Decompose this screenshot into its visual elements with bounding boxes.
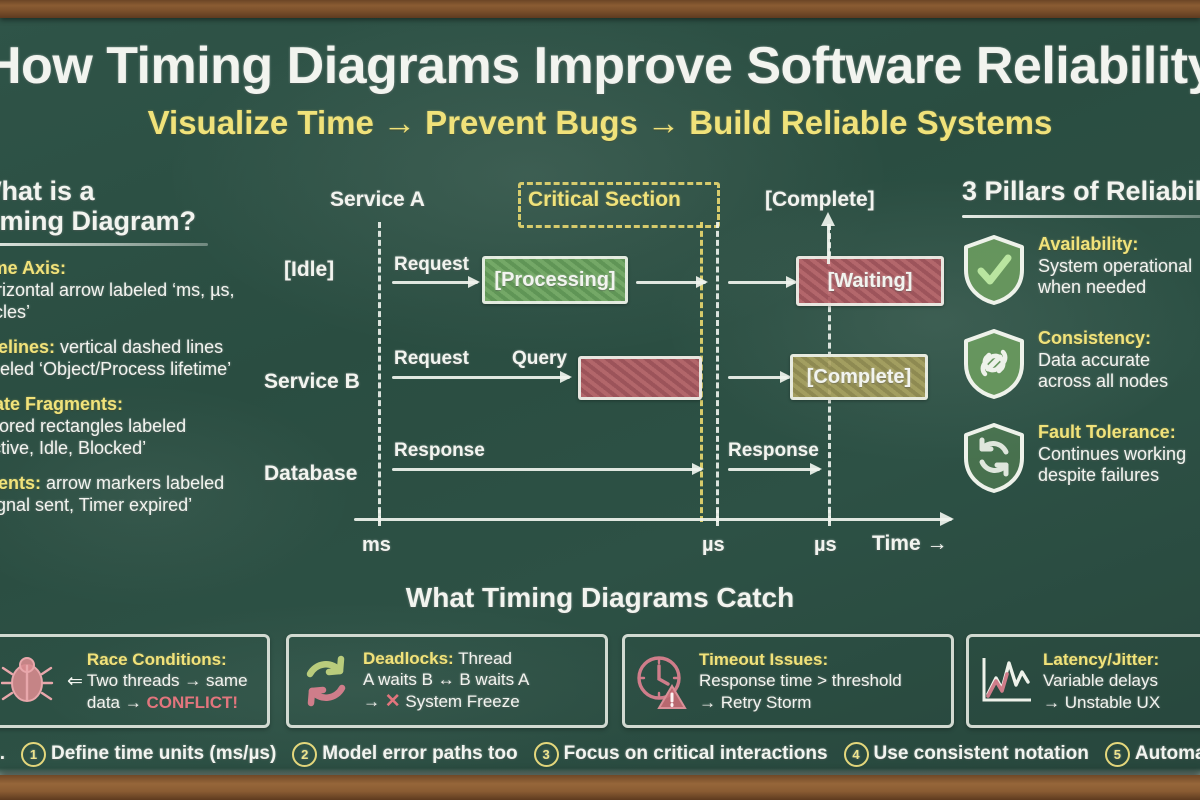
time-axis-label: Time →: [872, 532, 947, 556]
axis-tick: [716, 510, 719, 526]
message-label: Response: [394, 440, 485, 462]
left-item-term: State Fragments:: [0, 394, 123, 414]
card-term: Timeout Issues:: [699, 650, 828, 669]
footer-item: 1 Define time units (ms/µs): [21, 742, 276, 767]
axis-tick: [828, 510, 831, 526]
left-item-desc: colored rectangles labeled ‘Active, Idle…: [0, 416, 186, 458]
card-line2-post: System Freeze: [401, 692, 520, 711]
shield-recover-icon: [962, 422, 1026, 494]
complete-up-arrow: [827, 224, 830, 264]
critical-section-box: [518, 182, 720, 228]
state-label-idle: [Idle]: [284, 258, 334, 282]
cross-mark-icon: ✕: [385, 691, 401, 712]
message-arrow: [392, 376, 570, 379]
complete-marker-label: [Complete]: [765, 188, 875, 212]
list-item: Events: arrow markers labeled ‘Signal se…: [0, 473, 244, 517]
footer-item-text: Model error paths too: [322, 743, 517, 765]
pillar-term: Availability:: [1038, 234, 1138, 254]
state-box-blocked: [578, 356, 702, 400]
footer-item: 3 Focus on critical interactions: [534, 742, 828, 767]
left-item-desc: horizontal arrow labeled ‘ms, µs, cycles…: [0, 280, 234, 322]
left-item-term: Events:: [0, 473, 41, 493]
chalkboard-canvas: How Timing Diagrams Improve Software Rel…: [0, 0, 1200, 800]
catch-card-race-conditions: ⇐ Race Conditions: Two threads → same da…: [0, 634, 270, 728]
list-item: Fault Tolerance: Continues working despi…: [962, 422, 1200, 494]
pillar-line2: despite failures: [1038, 465, 1159, 485]
catch-card-timeout-issues: Timeout Issues: Response time > threshol…: [622, 634, 954, 728]
page-subtitle: Visualize Time → Prevent Bugs → Build Re…: [100, 104, 1100, 142]
right-panel-heading: 3 Pillars of Reliability: [962, 176, 1200, 207]
list-item: Availability: System operational when ne…: [962, 234, 1200, 306]
shield-link-icon: [962, 328, 1026, 400]
card-line1: Response time > threshold: [699, 671, 902, 690]
circular-arrows-icon: [297, 652, 355, 710]
wooden-frame-bottom: [0, 775, 1200, 800]
bug-icon: [1, 652, 59, 710]
page-title: How Timing Diagrams Improve Software Rel…: [0, 36, 1200, 96]
footer-item-text: Define time units (ms/µs): [51, 743, 276, 765]
axis-tick-label: µs: [702, 534, 725, 557]
number-badge: 2: [292, 742, 317, 767]
list-item: State Fragments: colored rectangles labe…: [0, 394, 244, 460]
number-badge: 4: [844, 742, 869, 767]
jitter-chart-icon: [977, 652, 1035, 710]
footer-item: 4 Use consistent notation: [844, 742, 1089, 767]
time-axis: [354, 518, 952, 521]
timing-diagram: Service A Critical Section [Complete] [I…: [250, 176, 970, 576]
card-term: Race Conditions:: [87, 650, 227, 669]
list-item: Consistency: Data accurate across all no…: [962, 328, 1200, 400]
card-line1: Variable delays: [1043, 671, 1158, 690]
axis-tick-label: µs: [814, 534, 837, 557]
message-label: Request: [394, 254, 469, 276]
left-panel-heading: What is a Timing Diagram?: [0, 176, 244, 236]
shield-check-icon: [962, 234, 1026, 306]
footer-lead: Practices.: [0, 743, 5, 765]
lifeline-label-database: Database: [264, 462, 357, 486]
card-line1: Two threads → same: [87, 671, 248, 690]
clock-alert-icon: [633, 652, 691, 710]
message-label: Response: [728, 440, 819, 462]
footer-item: 2 Model error paths too: [292, 742, 517, 767]
card-term: Latency/Jitter:: [1043, 650, 1159, 669]
lifeline-critical-end: [716, 222, 719, 522]
lifeline-service-a: [378, 222, 381, 522]
card-term: Deadlocks:: [363, 649, 454, 668]
state-box-waiting: [Waiting]: [796, 256, 944, 306]
left-panel: What is a Timing Diagram? Time Axis: hor…: [0, 176, 244, 530]
left-heading-line2: Timing Diagram?: [0, 206, 196, 236]
wooden-frame-top: [0, 0, 1200, 18]
message-arrow: [728, 281, 796, 284]
card-line2-pre: data →: [87, 693, 147, 712]
state-box-complete: [Complete]: [790, 354, 928, 400]
state-box-processing: [Processing]: [482, 256, 628, 304]
card-term-tail: Thread: [454, 649, 512, 668]
card-line1: A waits B ↔ B waits A: [363, 670, 529, 689]
message-arrow: [392, 468, 702, 471]
message-arrow: [636, 281, 706, 284]
card-line2-highlight: CONFLICT!: [146, 693, 238, 712]
pillar-line2: across all nodes: [1038, 371, 1168, 391]
footer-item-text: Focus on critical interactions: [564, 743, 828, 765]
axis-tick-label: ms: [362, 534, 391, 557]
list-item: Lifelines: vertical dashed lines labeled…: [0, 337, 244, 381]
number-badge: 1: [21, 742, 46, 767]
footer-item: 5 Automate timing: [1105, 742, 1200, 767]
left-arrow-glyph: ⇐: [67, 670, 83, 693]
lifeline-label-service-b: Service B: [264, 370, 360, 394]
number-badge: 3: [534, 742, 559, 767]
catch-card-latency-jitter: Latency/Jitter: Variable delays → Unstab…: [966, 634, 1200, 728]
left-panel-divider: [0, 243, 208, 246]
number-badge: 5: [1105, 742, 1130, 767]
pillar-line2: when needed: [1038, 277, 1146, 297]
message-label: Request: [394, 348, 469, 370]
pillar-term: Fault Tolerance:: [1038, 422, 1176, 442]
axis-tick: [378, 510, 381, 526]
card-line2: → Retry Storm: [699, 693, 811, 712]
card-line2-pre: →: [363, 692, 385, 711]
message-arrow: [728, 376, 790, 379]
message-label: Query: [512, 348, 567, 370]
footer-item-text: Automate timing: [1135, 743, 1200, 765]
catch-section-heading: What Timing Diagrams Catch: [0, 582, 1200, 614]
pillar-line1: System operational: [1038, 256, 1192, 276]
left-heading-line1: What is a: [0, 176, 95, 206]
pillar-term: Consistency:: [1038, 328, 1151, 348]
catch-card-deadlocks: Deadlocks: Thread A waits B ↔ B waits A …: [286, 634, 608, 728]
left-item-term: Time Axis:: [0, 258, 66, 278]
list-item: Time Axis: horizontal arrow labeled ‘ms,…: [0, 258, 244, 324]
pillar-line1: Data accurate: [1038, 350, 1150, 370]
pillar-line1: Continues working: [1038, 444, 1186, 464]
footer-item-text: Use consistent notation: [874, 743, 1089, 765]
message-arrow: [392, 281, 478, 284]
right-panel-divider: [962, 215, 1200, 218]
message-arrow: [728, 468, 820, 471]
left-item-term: Lifelines:: [0, 337, 55, 357]
right-panel: 3 Pillars of Reliability Availability: S…: [962, 176, 1200, 516]
card-line2: → Unstable UX: [1043, 693, 1160, 712]
lifeline-label-service-a: Service A: [330, 188, 425, 212]
